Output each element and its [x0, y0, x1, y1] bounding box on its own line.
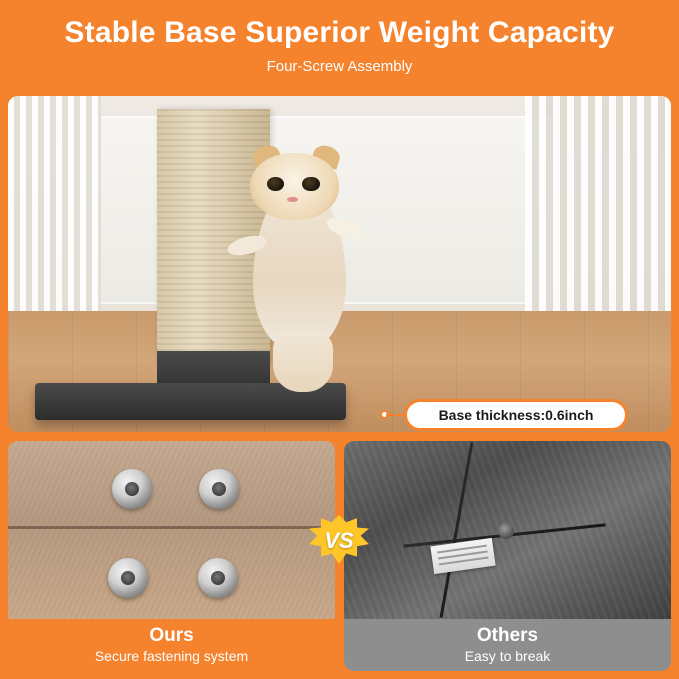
others-caption: Others Easy to break: [344, 619, 671, 671]
screw-icon: [112, 469, 152, 509]
cat-eye-right: [302, 177, 319, 192]
page-title: Stable Base Superior Weight Capacity: [64, 16, 614, 50]
compare-panel-others: Others Easy to break: [344, 441, 671, 671]
base-seam-line: [8, 526, 335, 529]
ours-subtitle: Secure fastening system: [95, 648, 248, 664]
compare-panel-ours: Ours Secure fastening system: [8, 441, 335, 671]
hero-photo: [8, 96, 671, 432]
broken-base-photo: [344, 441, 671, 619]
cat-head: [250, 153, 340, 220]
ours-caption: Ours Secure fastening system: [8, 619, 335, 671]
cat-hind-legs: [273, 331, 333, 391]
ours-title: Ours: [149, 626, 193, 646]
page-subtitle: Four-Screw Assembly: [267, 58, 413, 75]
four-screw-base-photo: [8, 441, 335, 619]
others-title: Others: [477, 626, 538, 646]
product-infographic: Stable Base Superior Weight Capacity Fou…: [0, 0, 679, 679]
header: Stable Base Superior Weight Capacity Fou…: [0, 0, 679, 96]
screw-icon: [108, 558, 148, 598]
cat-eye-left: [267, 177, 284, 192]
vs-label: VS: [309, 515, 369, 567]
crack-line-vertical: [440, 442, 474, 618]
base-thickness-callout: Base thickness:0.6inch: [404, 399, 628, 431]
others-subtitle: Easy to break: [465, 648, 551, 664]
fastener-knot: [498, 523, 514, 539]
screw-icon: [199, 469, 239, 509]
vs-badge: VS: [309, 515, 369, 567]
callout-leader-line: [386, 414, 406, 416]
curtain-left: [8, 96, 101, 338]
screw-icon: [198, 558, 238, 598]
cat-nose: [287, 197, 298, 202]
base-thickness-label: Base thickness:0.6inch: [439, 407, 594, 423]
